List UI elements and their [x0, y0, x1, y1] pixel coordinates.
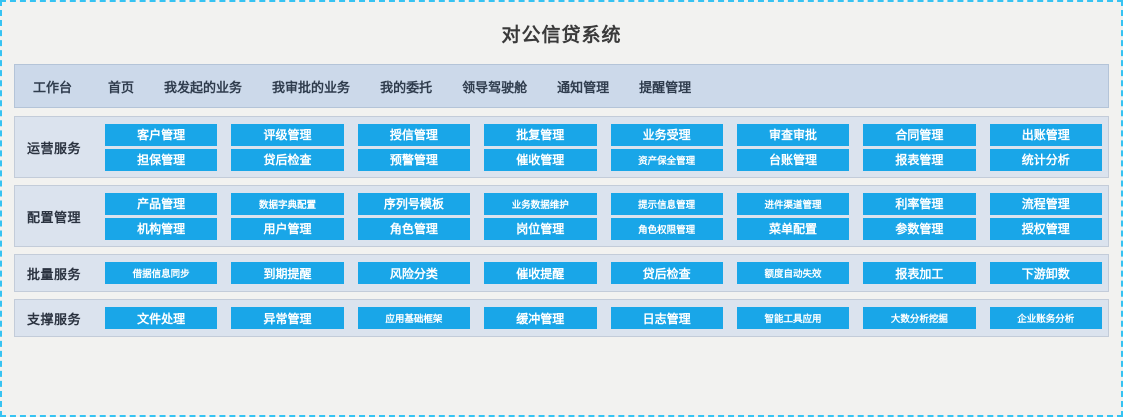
- section-label-1: 配置管理: [23, 207, 105, 226]
- menu-tile[interactable]: 授权管理: [990, 218, 1102, 240]
- sections-container: 运营服务客户管理评级管理授信管理批复管理业务受理审查审批合同管理出账管理担保管理…: [14, 116, 1109, 337]
- menu-tile[interactable]: 额度自动失效: [737, 262, 849, 284]
- menu-tile[interactable]: 大数分析挖掘: [863, 307, 975, 329]
- menu-tile[interactable]: 参数管理: [863, 218, 975, 240]
- menu-tile[interactable]: 合同管理: [863, 124, 975, 146]
- menu-tile[interactable]: 贷后检查: [611, 262, 723, 284]
- section-label-3: 支撑服务: [23, 309, 105, 328]
- menu-tile[interactable]: 缓冲管理: [484, 307, 596, 329]
- menu-tile[interactable]: 文件处理: [105, 307, 217, 329]
- menu-tile[interactable]: 风险分类: [358, 262, 470, 284]
- section-panel-3: 支撑服务文件处理异常管理应用基础框架缓冲管理日志管理智能工具应用大数分析挖掘企业…: [14, 299, 1109, 337]
- nav-item-7[interactable]: 提醒管理: [639, 77, 691, 96]
- menu-tile[interactable]: 流程管理: [990, 193, 1102, 215]
- menu-tile[interactable]: 进件渠道管理: [737, 193, 849, 215]
- menu-tile[interactable]: 用户管理: [231, 218, 343, 240]
- section-label-0: 运营服务: [23, 138, 105, 157]
- section-grid-2: 借据信息同步到期提醒风险分类催收提醒贷后检查额度自动失效报表加工下游卸数: [105, 262, 1102, 284]
- menu-tile[interactable]: 催收管理: [484, 149, 596, 171]
- nav-item-3[interactable]: 我审批的业务: [272, 77, 350, 96]
- menu-tile[interactable]: 日志管理: [611, 307, 723, 329]
- menu-tile[interactable]: 机构管理: [105, 218, 217, 240]
- nav-item-0[interactable]: 工作台: [33, 77, 72, 96]
- section-panel-1: 配置管理产品管理数据字典配置序列号模板业务数据维护提示信息管理进件渠道管理利率管…: [14, 185, 1109, 247]
- menu-tile[interactable]: 角色管理: [358, 218, 470, 240]
- menu-tile[interactable]: 业务数据维护: [484, 193, 596, 215]
- menu-tile[interactable]: 评级管理: [231, 124, 343, 146]
- menu-tile[interactable]: 下游卸数: [990, 262, 1102, 284]
- menu-tile[interactable]: 序列号模板: [358, 193, 470, 215]
- nav-item-1[interactable]: 首页: [108, 77, 134, 96]
- menu-tile[interactable]: 统计分析: [990, 149, 1102, 171]
- menu-tile[interactable]: 批复管理: [484, 124, 596, 146]
- menu-tile[interactable]: 审查审批: [737, 124, 849, 146]
- menu-tile[interactable]: 数据字典配置: [231, 193, 343, 215]
- menu-tile[interactable]: 应用基础框架: [358, 307, 470, 329]
- menu-tile[interactable]: 出账管理: [990, 124, 1102, 146]
- menu-tile[interactable]: 借据信息同步: [105, 262, 217, 284]
- main-navigation: 工作台首页我发起的业务我审批的业务我的委托领导驾驶舱通知管理提醒管理: [14, 64, 1109, 108]
- title-bar: 对公信贷系统: [2, 2, 1121, 64]
- section-grid-1: 产品管理数据字典配置序列号模板业务数据维护提示信息管理进件渠道管理利率管理流程管…: [105, 193, 1102, 240]
- menu-tile[interactable]: 预警管理: [358, 149, 470, 171]
- menu-tile[interactable]: 角色权限管理: [611, 218, 723, 240]
- menu-tile[interactable]: 授信管理: [358, 124, 470, 146]
- section-panel-2: 批量服务借据信息同步到期提醒风险分类催收提醒贷后检查额度自动失效报表加工下游卸数: [14, 254, 1109, 292]
- menu-tile[interactable]: 菜单配置: [737, 218, 849, 240]
- menu-tile[interactable]: 利率管理: [863, 193, 975, 215]
- menu-tile[interactable]: 提示信息管理: [611, 193, 723, 215]
- nav-item-2[interactable]: 我发起的业务: [164, 77, 242, 96]
- menu-tile[interactable]: 报表加工: [863, 262, 975, 284]
- section-label-2: 批量服务: [23, 264, 105, 283]
- menu-tile[interactable]: 资产保全管理: [611, 149, 723, 171]
- menu-tile[interactable]: 异常管理: [231, 307, 343, 329]
- section-grid-3: 文件处理异常管理应用基础框架缓冲管理日志管理智能工具应用大数分析挖掘企业账务分析: [105, 307, 1102, 329]
- page-content: 工作台首页我发起的业务我审批的业务我的委托领导驾驶舱通知管理提醒管理 运营服务客…: [2, 64, 1121, 350]
- menu-tile[interactable]: 业务受理: [611, 124, 723, 146]
- menu-tile[interactable]: 台账管理: [737, 149, 849, 171]
- nav-item-5[interactable]: 领导驾驶舱: [462, 77, 527, 96]
- section-panel-0: 运营服务客户管理评级管理授信管理批复管理业务受理审查审批合同管理出账管理担保管理…: [14, 116, 1109, 178]
- nav-item-6[interactable]: 通知管理: [557, 77, 609, 96]
- menu-tile[interactable]: 报表管理: [863, 149, 975, 171]
- section-grid-0: 客户管理评级管理授信管理批复管理业务受理审查审批合同管理出账管理担保管理贷后检查…: [105, 124, 1102, 171]
- page-frame: 对公信贷系统 工作台首页我发起的业务我审批的业务我的委托领导驾驶舱通知管理提醒管…: [0, 0, 1123, 417]
- menu-tile[interactable]: 客户管理: [105, 124, 217, 146]
- menu-tile[interactable]: 企业账务分析: [990, 307, 1102, 329]
- menu-tile[interactable]: 催收提醒: [484, 262, 596, 284]
- menu-tile[interactable]: 到期提醒: [231, 262, 343, 284]
- menu-tile[interactable]: 担保管理: [105, 149, 217, 171]
- menu-tile[interactable]: 贷后检查: [231, 149, 343, 171]
- menu-tile[interactable]: 智能工具应用: [737, 307, 849, 329]
- menu-tile[interactable]: 产品管理: [105, 193, 217, 215]
- menu-tile[interactable]: 岗位管理: [484, 218, 596, 240]
- nav-item-4[interactable]: 我的委托: [380, 77, 432, 96]
- page-title: 对公信贷系统: [501, 20, 621, 47]
